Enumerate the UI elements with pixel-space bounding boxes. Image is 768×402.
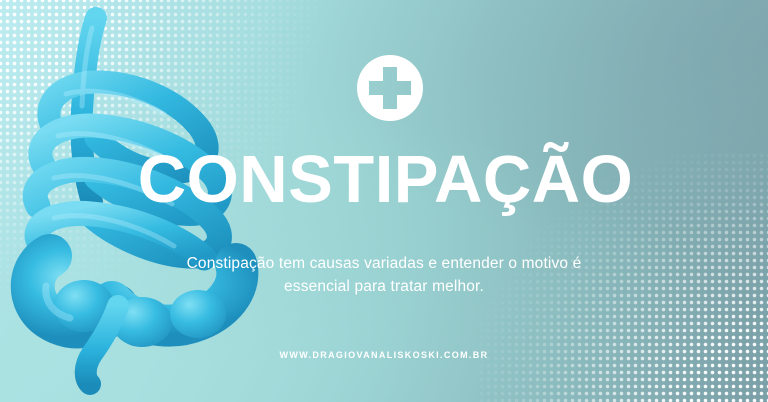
website-url: WWW.DRAGIOVANALISKOSKI.COM.BR (0, 350, 768, 360)
page-title: CONSTIPAÇÃO (0, 140, 768, 220)
page-subtitle: Constipação tem causas variadas e entend… (159, 252, 609, 298)
medical-cross-icon (357, 55, 423, 121)
constipation-banner: CONSTIPAÇÃO Constipação tem causas varia… (0, 0, 768, 402)
